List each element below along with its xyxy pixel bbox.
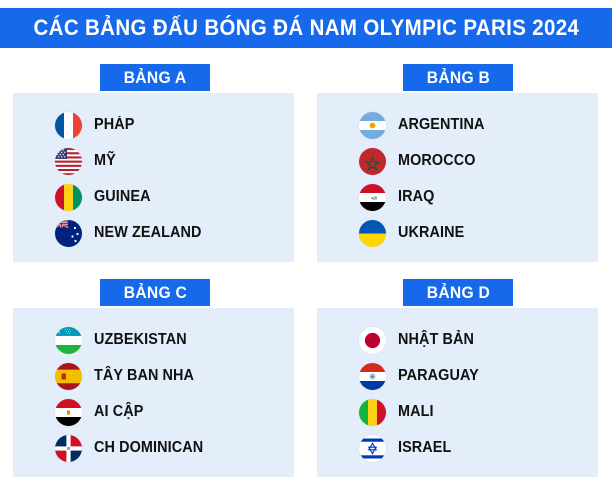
team-row[interactable]: ﷲ IRAQ bbox=[359, 179, 491, 215]
page-title: CÁC BẢNG ĐẤU BÓNG ĐÁ NAM OLYMPIC PARIS 2… bbox=[33, 15, 579, 41]
team-name: NHẬT BẢN bbox=[398, 331, 474, 349]
group-badge-b-label: BẢNG B bbox=[426, 68, 489, 88]
team-name: IRAQ bbox=[398, 188, 434, 206]
group-d-team-list: NHẬT BẢN PARAGUAY MA bbox=[359, 322, 485, 466]
team-row[interactable]: GUINEA bbox=[55, 179, 210, 215]
flag-spain-icon bbox=[55, 363, 82, 390]
group-b-team-list: ARGENTINA MOROCCO ﷲ bbox=[359, 107, 491, 251]
team-name: AI CẬP bbox=[94, 403, 143, 421]
flag-mali-icon bbox=[359, 399, 386, 426]
team-row[interactable]: CH DOMINICAN bbox=[55, 430, 211, 466]
flag-morocco-icon bbox=[359, 148, 386, 175]
team-name: GUINEA bbox=[94, 188, 151, 206]
team-row[interactable]: UKRAINE bbox=[359, 215, 491, 251]
team-name: ARGENTINA bbox=[398, 116, 485, 134]
team-row[interactable]: ISRAEL bbox=[359, 430, 485, 466]
team-name: MALI bbox=[398, 403, 434, 421]
team-name: UKRAINE bbox=[398, 224, 464, 242]
flag-paraguay-icon bbox=[359, 363, 386, 390]
team-row[interactable]: TÂY BAN NHA bbox=[55, 358, 211, 394]
group-panel-a: PHÁP bbox=[13, 93, 294, 262]
flag-uzbekistan-icon bbox=[55, 327, 82, 354]
group-panel-b: ARGENTINA MOROCCO ﷲ bbox=[317, 93, 598, 262]
team-name: PHÁP bbox=[94, 116, 134, 134]
team-row[interactable]: MỸ bbox=[55, 143, 210, 179]
olympic-groups-infographic: CÁC BẢNG ĐẤU BÓNG ĐÁ NAM OLYMPIC PARIS 2… bbox=[0, 0, 612, 494]
team-row[interactable]: MALI bbox=[359, 394, 485, 430]
team-name: ISRAEL bbox=[398, 439, 451, 457]
flag-argentina-icon bbox=[359, 112, 386, 139]
team-name: TÂY BAN NHA bbox=[94, 367, 194, 385]
group-badge-c-label: BẢNG C bbox=[123, 283, 186, 303]
flag-guinea-icon bbox=[55, 184, 82, 211]
group-badge-d: BẢNG D bbox=[403, 279, 513, 306]
group-badge-d-label: BẢNG D bbox=[426, 283, 489, 303]
flag-japan-icon bbox=[359, 327, 386, 354]
group-badge-a-label: BẢNG A bbox=[124, 68, 187, 88]
team-row[interactable]: UZBEKISTAN bbox=[55, 322, 211, 358]
team-name: MOROCCO bbox=[398, 152, 476, 170]
team-row[interactable]: AI CẬP bbox=[55, 394, 211, 430]
group-panel-d: NHẬT BẢN PARAGUAY MA bbox=[317, 308, 598, 477]
flag-egypt-icon bbox=[55, 399, 82, 426]
flag-ukraine-icon bbox=[359, 220, 386, 247]
flag-israel-icon bbox=[359, 435, 386, 462]
flag-france-icon bbox=[55, 112, 82, 139]
group-panel-c: UZBEKISTAN TÂY BAN NHA bbox=[13, 308, 294, 477]
team-row[interactable]: PARAGUAY bbox=[359, 358, 485, 394]
team-row[interactable]: NEW ZEALAND bbox=[55, 215, 210, 251]
group-badge-c: BẢNG C bbox=[100, 279, 210, 306]
team-row[interactable]: MOROCCO bbox=[359, 143, 491, 179]
flag-dominican-republic-icon bbox=[55, 435, 82, 462]
team-name: UZBEKISTAN bbox=[94, 331, 187, 349]
group-badge-a: BẢNG A bbox=[100, 64, 210, 91]
group-a-team-list: PHÁP bbox=[55, 107, 210, 251]
team-row[interactable]: PHÁP bbox=[55, 107, 210, 143]
team-row[interactable]: ARGENTINA bbox=[359, 107, 491, 143]
flag-iraq-icon: ﷲ bbox=[359, 184, 386, 211]
team-name: PARAGUAY bbox=[398, 367, 479, 385]
flag-new-zealand-icon bbox=[55, 220, 82, 247]
team-row[interactable]: NHẬT BẢN bbox=[359, 322, 485, 358]
team-name: NEW ZEALAND bbox=[94, 224, 202, 242]
group-badge-b: BẢNG B bbox=[403, 64, 513, 91]
header-banner: CÁC BẢNG ĐẤU BÓNG ĐÁ NAM OLYMPIC PARIS 2… bbox=[0, 8, 612, 48]
group-c-team-list: UZBEKISTAN TÂY BAN NHA bbox=[55, 322, 211, 466]
team-name: MỸ bbox=[94, 152, 116, 170]
flag-usa-icon bbox=[55, 148, 82, 175]
team-name: CH DOMINICAN bbox=[94, 439, 203, 457]
